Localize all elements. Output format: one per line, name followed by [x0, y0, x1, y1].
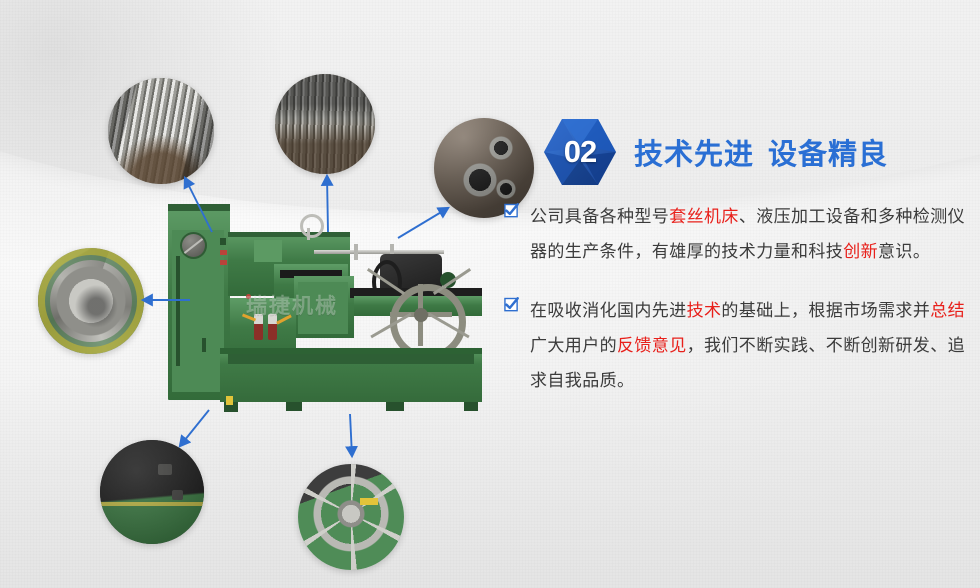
callout-thread-closeup [275, 74, 375, 174]
highlighted-phrase: 套丝机床 [669, 207, 739, 227]
section-headline: 02 技术先进设备精良 [542, 116, 888, 188]
callout-threaded-rod [108, 78, 214, 184]
highlighted-phrase: 创新 [843, 242, 878, 262]
checkbox-checked-icon [504, 203, 519, 218]
body-phrase: 在吸收消化国内先进 [530, 301, 687, 321]
step-number-badge: 02 [542, 116, 618, 188]
bullet-item: 在吸收消化国内先进技术的基础上，根据市场需求并总结广大用户的反馈意见，我们不断实… [504, 294, 974, 399]
body-phrase: 的基础上，根据市场需求并 [721, 301, 930, 321]
body-phrase: 公司具备各种型号 [530, 207, 669, 227]
bullet-item: 公司具备各种型号套丝机床、液压加工设备和多种检测仪器的生产条件，有雄厚的技术力量… [504, 200, 974, 270]
bullet-list: 公司具备各种型号套丝机床、液压加工设备和多种检测仪器的生产条件，有雄厚的技术力量… [504, 200, 974, 423]
highlighted-phrase: 反馈意见 [617, 336, 687, 356]
machine-photo: 瑞捷机械 [168, 198, 492, 420]
copy-column: 02 技术先进设备精良 公司具备各种型号套丝机床、液压加工设备和多种检测仪器的生… [500, 0, 980, 588]
headline-part-2: 设备精良 [768, 137, 888, 171]
arrow-to-handwheel [350, 414, 352, 456]
bullet-text: 在吸收消化国内先进技术的基础上，根据市场需求并总结广大用户的反馈意见，我们不断实… [530, 294, 974, 399]
headline-part-1: 技术先进 [634, 137, 754, 171]
promo-banner: 瑞捷机械 [0, 0, 980, 588]
callout-handwheel [298, 464, 404, 570]
callout-hydraulic-parts [100, 440, 204, 544]
bullet-text: 公司具备各种型号套丝机床、液压加工设备和多种检测仪器的生产条件，有雄厚的技术力量… [530, 200, 974, 270]
body-phrase: 意识。 [878, 242, 930, 262]
machine-photo-composition: 瑞捷机械 [0, 0, 520, 588]
callout-cutting-head [38, 248, 144, 354]
headline-text: 技术先进设备精良 [634, 131, 888, 173]
checkbox-checked-icon [504, 297, 519, 312]
step-number-text: 02 [542, 116, 618, 188]
highlighted-phrase: 技术 [687, 301, 722, 321]
highlighted-phrase: 总结 [930, 301, 965, 321]
body-phrase: 广大用户的 [530, 336, 617, 356]
